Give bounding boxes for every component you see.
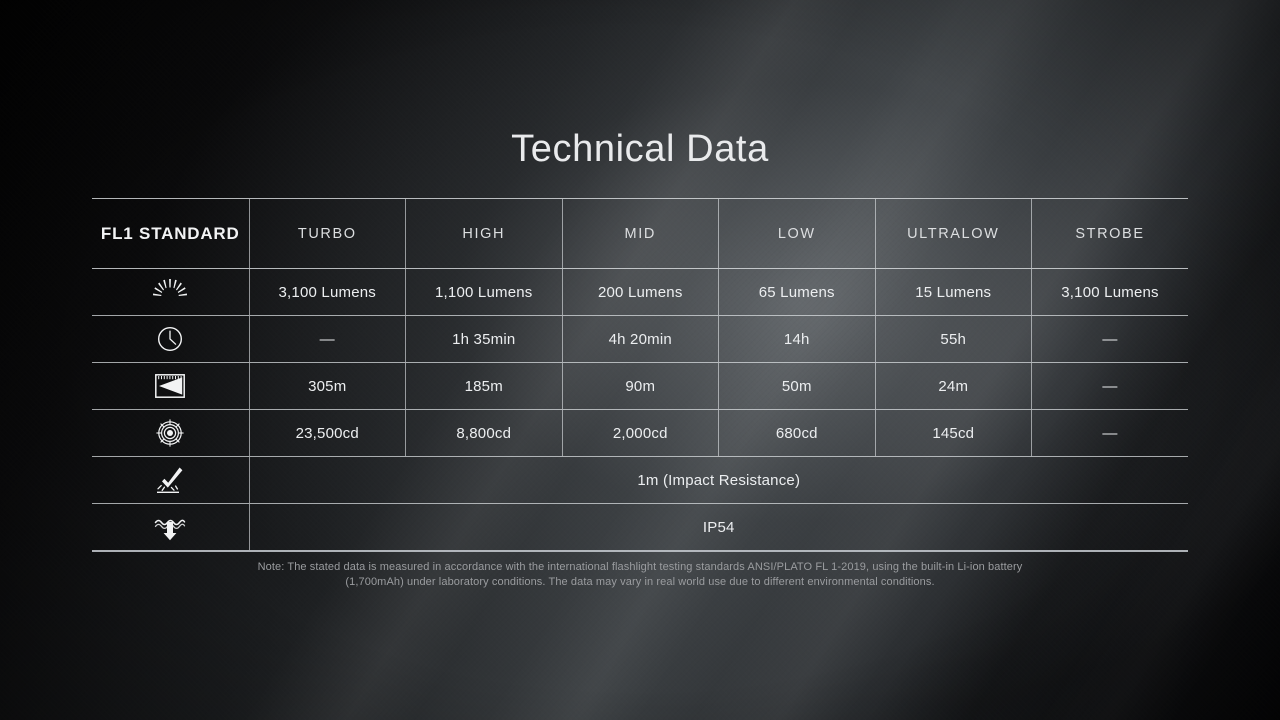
value-runtime-turbo: — [249, 316, 406, 363]
value-runtime-strobe: — [1032, 316, 1189, 363]
value-beam-distance-mid: 90m [562, 363, 719, 410]
mode-header-low: LOW [719, 199, 876, 269]
value-runtime-low: 14h [719, 316, 876, 363]
value-output-turbo: 3,100 Lumens [249, 269, 406, 316]
value-output-ultralow: 15 Lumens [875, 269, 1032, 316]
value-output-high: 1,100 Lumens [406, 269, 563, 316]
row-icon-cell-output [92, 269, 249, 316]
footnote-line-2: (1,700mAh) under laboratory conditions. … [190, 575, 1090, 590]
value-peak-intensity-mid: 2,000cd [562, 410, 719, 457]
beam-distance-icon [92, 363, 249, 409]
table-row-beam-distance: 305m 185m 90m 50m 24m — [92, 363, 1188, 410]
value-water-resistance: IP54 [249, 504, 1188, 552]
mode-header-mid: MID [562, 199, 719, 269]
mode-header-strobe: STROBE [1032, 199, 1189, 269]
value-runtime-ultralow: 55h [875, 316, 1032, 363]
mode-header-high: HIGH [406, 199, 563, 269]
water-resistance-icon [92, 504, 249, 550]
value-runtime-mid: 4h 20min [562, 316, 719, 363]
footnote: Note: The stated data is measured in acc… [190, 560, 1090, 590]
row-icon-cell-runtime [92, 316, 249, 363]
value-beam-distance-turbo: 305m [249, 363, 406, 410]
table-row-output: 3,100 Lumens 1,100 Lumens 200 Lumens 65 … [92, 269, 1188, 316]
peak-intensity-icon [92, 410, 249, 456]
value-impact-resistance: 1m (Impact Resistance) [249, 457, 1188, 504]
table-row-peak-intensity: 23,500cd 8,800cd 2,000cd 680cd 145cd — [92, 410, 1188, 457]
value-beam-distance-strobe: — [1032, 363, 1189, 410]
value-peak-intensity-low: 680cd [719, 410, 876, 457]
footnote-line-1: Note: The stated data is measured in acc… [190, 560, 1090, 575]
mode-header-ultralow: ULTRALOW [875, 199, 1032, 269]
row-icon-cell-impact-resistance [92, 457, 249, 504]
value-output-low: 65 Lumens [719, 269, 876, 316]
value-beam-distance-high: 185m [406, 363, 563, 410]
value-beam-distance-low: 50m [719, 363, 876, 410]
table-row-runtime: — 1h 35min 4h 20min 14h 55h — [92, 316, 1188, 363]
row-icon-cell-peak-intensity [92, 410, 249, 457]
value-runtime-high: 1h 35min [406, 316, 563, 363]
page-title: Technical Data [0, 128, 1280, 171]
slide-content: Technical Data FL1 STANDARD TURBO HIGH M… [0, 0, 1280, 720]
row-icon-cell-beam-distance [92, 363, 249, 410]
impact-resistance-icon [92, 457, 249, 503]
row-icon-cell-water-resistance [92, 504, 249, 552]
value-peak-intensity-ultralow: 145cd [875, 410, 1032, 457]
technical-data-table: FL1 STANDARD TURBO HIGH MID LOW ULTRALOW… [92, 198, 1188, 552]
value-beam-distance-ultralow: 24m [875, 363, 1032, 410]
table-row-impact-resistance: 1m (Impact Resistance) [92, 457, 1188, 504]
value-peak-intensity-turbo: 23,500cd [249, 410, 406, 457]
table-row-water-resistance: IP54 [92, 504, 1188, 552]
value-peak-intensity-high: 8,800cd [406, 410, 563, 457]
value-peak-intensity-strobe: — [1032, 410, 1189, 457]
table-header-row: FL1 STANDARD TURBO HIGH MID LOW ULTRALOW… [92, 199, 1188, 269]
fl1-standard-header: FL1 STANDARD [92, 199, 249, 269]
mode-header-turbo: TURBO [249, 199, 406, 269]
value-output-mid: 200 Lumens [562, 269, 719, 316]
sunburst-lumens-icon [92, 269, 249, 315]
clock-runtime-icon [92, 316, 249, 362]
value-output-strobe: 3,100 Lumens [1032, 269, 1189, 316]
